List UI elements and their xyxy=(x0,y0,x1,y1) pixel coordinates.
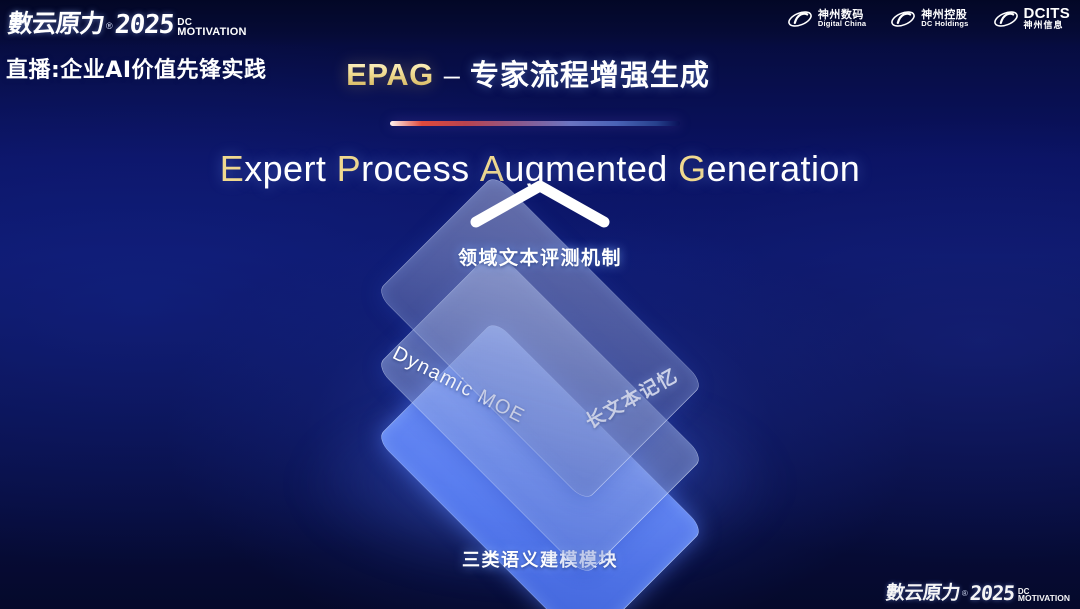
chevron-up-icon xyxy=(468,176,612,230)
brand-logo-year: 2025 xyxy=(113,10,175,40)
footer-watermark-logo: 數云原力 ® 2025 DC MOTIVATION xyxy=(886,578,1070,605)
title-divider xyxy=(390,121,680,126)
brand-logo: 數云原力 ® 2025 DC MOTIVATION xyxy=(8,4,247,40)
title-chinese: 专家流程增强生成 xyxy=(470,52,710,94)
watermark-registered-mark: ® xyxy=(962,589,968,598)
partner-logo-digital-china: 神州数码 Digital China xyxy=(787,8,866,30)
livestream-label: 直播:企业AI价值先锋实践 xyxy=(6,52,267,84)
diagram-layer-top[interactable]: 领域文本评测机制 xyxy=(330,128,750,548)
partner-name-en: DC Holdings xyxy=(921,20,968,28)
subtitle-cap-e: E xyxy=(220,148,244,189)
watermark-year: 2025 xyxy=(968,581,1015,605)
title-acronym: EPAG xyxy=(346,57,434,93)
watermark-chinese: 數云原力 xyxy=(884,578,961,605)
swirl-logo-icon xyxy=(993,8,1019,30)
partner-text-dcits: DCITS 神州信息 xyxy=(1024,6,1071,31)
swirl-logo-icon xyxy=(787,8,813,30)
partner-logo-group: 神州数码 Digital China 神州控股 DC Holdings DCIT… xyxy=(787,6,1070,31)
partner-name-en: Digital China xyxy=(818,20,866,28)
subtitle-rest-expert: xpert xyxy=(244,148,326,189)
watermark-motivation: MOTIVATION xyxy=(1018,595,1070,603)
partner-text-digital-china: 神州数码 Digital China xyxy=(818,9,866,28)
brand-logo-registered-mark: ® xyxy=(106,21,113,31)
brand-logo-chinese: 數云原力 xyxy=(6,4,106,40)
swirl-logo-icon xyxy=(890,8,916,30)
layered-diagram: 三类语义建模模块 Dynamic MOE 长文本记忆 领域文本评测机制 xyxy=(0,216,1080,586)
brand-logo-dc-motivation: DC MOTIVATION xyxy=(177,18,246,37)
slide-canvas: 數云原力 ® 2025 DC MOTIVATION 直播:企业AI价值先锋实践 … xyxy=(0,0,1080,609)
partner-name-cn: 神州信息 xyxy=(1024,22,1071,31)
watermark-dc-motivation: DC MOTIVATION xyxy=(1018,588,1070,603)
title-dash: – xyxy=(444,60,460,93)
diagram-layer-top-label: 领域文本评测机制 xyxy=(330,243,750,270)
brand-logo-motivation: MOTIVATION xyxy=(177,27,246,37)
partner-logo-dcits: DCITS 神州信息 xyxy=(993,6,1071,31)
partner-logo-dc-holdings: 神州控股 DC Holdings xyxy=(890,8,968,30)
partner-name-en: DCITS xyxy=(1024,6,1071,22)
partner-text-dc-holdings: 神州控股 DC Holdings xyxy=(921,9,968,28)
